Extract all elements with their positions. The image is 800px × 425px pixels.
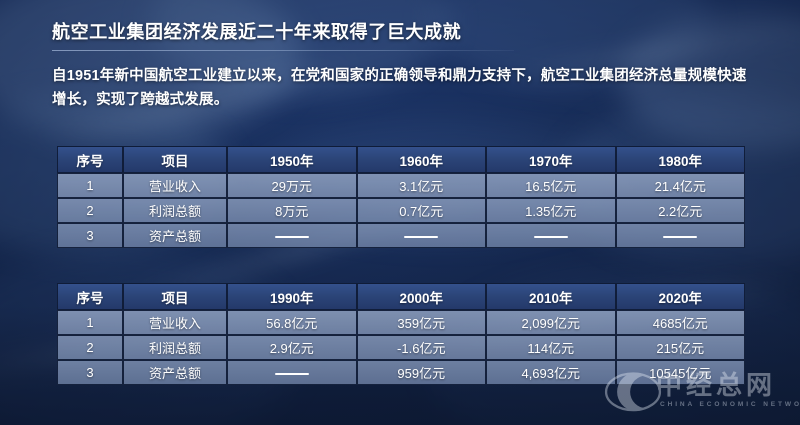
cell-value: 114亿元	[486, 335, 616, 360]
column-header-year-2010: 2010年	[486, 283, 616, 310]
cell-item: 营业收入	[123, 310, 227, 335]
page-title: 航空工业集团经济发展近二十年来取得了巨大成就	[52, 20, 461, 48]
cell-value: 8万元	[227, 198, 357, 223]
cell-index: 2	[57, 335, 123, 360]
cell-value: 4685亿元	[616, 310, 746, 335]
cell-value-empty	[227, 360, 357, 385]
cell-item: 营业收入	[123, 173, 227, 198]
cell-index: 2	[57, 198, 123, 223]
column-header-index: 序号	[57, 283, 123, 310]
cell-value-empty	[486, 223, 616, 248]
cell-value-empty	[616, 223, 746, 248]
cell-value: 215亿元	[616, 335, 746, 360]
table-row: 2 利润总额 2.9亿元 -1.6亿元 114亿元 215亿元	[57, 335, 745, 360]
data-table-1990-2020: 序号 项目 1990年 2000年 2010年 2020年 1 营业收入 56.…	[57, 283, 745, 385]
cell-index: 3	[57, 223, 123, 248]
cell-index: 1	[57, 173, 123, 198]
cell-index: 1	[57, 310, 123, 335]
column-header-year-1950: 1950年	[227, 146, 357, 173]
cell-value: 959亿元	[357, 360, 487, 385]
cell-value: 0.7亿元	[357, 198, 487, 223]
cell-value: 10545亿元	[616, 360, 746, 385]
empty-dash	[534, 236, 568, 238]
table-row: 1 营业收入 29万元 3.1亿元 16.5亿元 21.4亿元	[57, 173, 745, 198]
table-row: 2 利润总额 8万元 0.7亿元 1.35亿元 2.2亿元	[57, 198, 745, 223]
table-row: 1 营业收入 56.8亿元 359亿元 2,099亿元 4685亿元	[57, 310, 745, 335]
cell-value-empty	[357, 223, 487, 248]
cell-value: 16.5亿元	[486, 173, 616, 198]
cell-item: 利润总额	[123, 198, 227, 223]
column-header-index: 序号	[57, 146, 123, 173]
cell-value: 56.8亿元	[227, 310, 357, 335]
column-header-year-1990: 1990年	[227, 283, 357, 310]
cell-value: 3.1亿元	[357, 173, 487, 198]
cell-item: 资产总额	[123, 360, 227, 385]
column-header-year-1970: 1970年	[486, 146, 616, 173]
data-table-1950-1980: 序号 项目 1950年 1960年 1970年 1980年 1 营业收入 29万…	[57, 146, 745, 248]
column-header-year-2020: 2020年	[616, 283, 746, 310]
table-header-row: 序号 项目 1950年 1960年 1970年 1980年	[57, 146, 745, 173]
cell-value: -1.6亿元	[357, 335, 487, 360]
cell-value: 21.4亿元	[616, 173, 746, 198]
cell-value: 4,693亿元	[486, 360, 616, 385]
cell-value: 2.2亿元	[616, 198, 746, 223]
empty-dash	[275, 373, 309, 375]
cell-item: 资产总额	[123, 223, 227, 248]
column-header-year-1960: 1960年	[357, 146, 487, 173]
table-header-row: 序号 项目 1990年 2000年 2010年 2020年	[57, 283, 745, 310]
cell-value: 29万元	[227, 173, 357, 198]
table-row: 3 资产总额 959亿元 4,693亿元 10545亿元	[57, 360, 745, 385]
cell-value: 2.9亿元	[227, 335, 357, 360]
cell-index: 3	[57, 360, 123, 385]
column-header-item: 项目	[123, 146, 227, 173]
cell-value: 359亿元	[357, 310, 487, 335]
slide-canvas: 航空工业集团经济发展近二十年来取得了巨大成就 自1951年新中国航空工业建立以来…	[0, 0, 800, 425]
cell-value-empty	[227, 223, 357, 248]
empty-dash	[275, 236, 309, 238]
cell-item: 利润总额	[123, 335, 227, 360]
cell-value: 1.35亿元	[486, 198, 616, 223]
column-header-item: 项目	[123, 283, 227, 310]
headline-block: 航空工业集团经济发展近二十年来取得了巨大成就 自1951年新中国航空工业建立以来…	[52, 20, 752, 112]
cell-value: 2,099亿元	[486, 310, 616, 335]
subtitle-paragraph: 自1951年新中国航空工业建立以来，在党和国家的正确领导和鼎力支持下，航空工业集…	[52, 65, 752, 112]
column-header-year-1980: 1980年	[616, 146, 746, 173]
empty-dash	[404, 236, 438, 238]
column-header-year-2000: 2000年	[357, 283, 487, 310]
table-row: 3 资产总额	[57, 223, 745, 248]
title-underline	[52, 50, 514, 51]
empty-dash	[663, 236, 697, 238]
